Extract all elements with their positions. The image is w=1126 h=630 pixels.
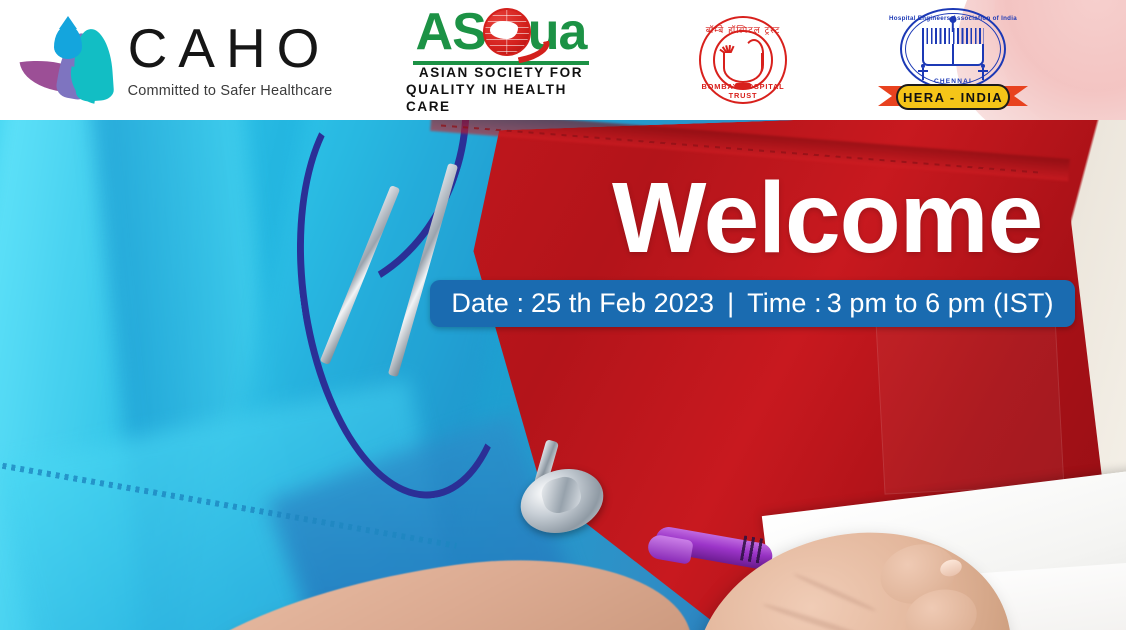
pen-grip-rings: [740, 535, 764, 563]
bht-devanagari-text: बॉम्बे हॉस्पिटल ट्रस्ट: [692, 23, 794, 36]
asqua-wordmark: AS ua: [416, 4, 587, 60]
caho-emblem-icon: [24, 17, 120, 103]
event-datetime-banner: Date : 25 th Feb 2023 | Time : 3 pm to 6…: [430, 280, 1075, 327]
banner-separator: |: [714, 288, 747, 319]
asqua-wordmark-prefix: AS: [416, 6, 486, 58]
header-logo-bar: CAHO Committed to Safer Healthcare AS ua…: [0, 0, 1126, 120]
bombay-hospital-trust-seal-icon: बॉम्बे हॉस्पिटल ट्रस्ट BOMBAY HOSPITAL T…: [692, 9, 794, 111]
asqua-globe-icon: [481, 6, 533, 58]
hera-india-emblem-icon: Hospital Engineers Association of India …: [878, 6, 1028, 114]
bht-bowl-of-hygieia-icon: [723, 53, 763, 83]
logo-asqua: AS ua ASIAN SOCIETY FOR QUALITY IN HEALT…: [406, 0, 596, 120]
hera-bars-icon: [922, 28, 984, 44]
asqua-line1: ASIAN SOCIETY FOR: [419, 65, 583, 82]
logo-caho: CAHO Committed to Safer Healthcare: [8, 0, 348, 120]
hera-open-book-icon: [922, 44, 984, 66]
bht-arc-text: BOMBAY HOSPITAL TRUST: [692, 82, 794, 100]
logo-bombay-hospital-trust: बॉम्बे हॉस्पिटल ट्रस्ट BOMBAY HOSPITAL T…: [648, 0, 838, 120]
caho-water-drop-icon: [54, 25, 82, 59]
event-time-label: Time :: [747, 288, 822, 319]
hera-ribbon-banner: HERA - INDIA: [878, 84, 1028, 114]
hera-ribbon-text: HERA - INDIA: [896, 84, 1010, 110]
slide-canvas: CAHO Committed to Safer Healthcare AS ua…: [0, 0, 1126, 630]
folder-pocket: [876, 315, 1065, 494]
caho-wordmark: CAHO: [128, 21, 333, 76]
event-time-value: 3 pm to 6 pm (IST): [822, 288, 1054, 319]
event-date-value: 25 th Feb 2023: [524, 288, 714, 319]
page-title: Welcome: [612, 168, 1042, 268]
asqua-line2: QUALITY IN HEALTH CARE: [406, 82, 596, 116]
event-date-label: Date :: [451, 288, 524, 319]
logo-hera-india: Hospital Engineers Association of India …: [858, 0, 1048, 120]
caho-tagline: Committed to Safer Healthcare: [128, 83, 333, 99]
